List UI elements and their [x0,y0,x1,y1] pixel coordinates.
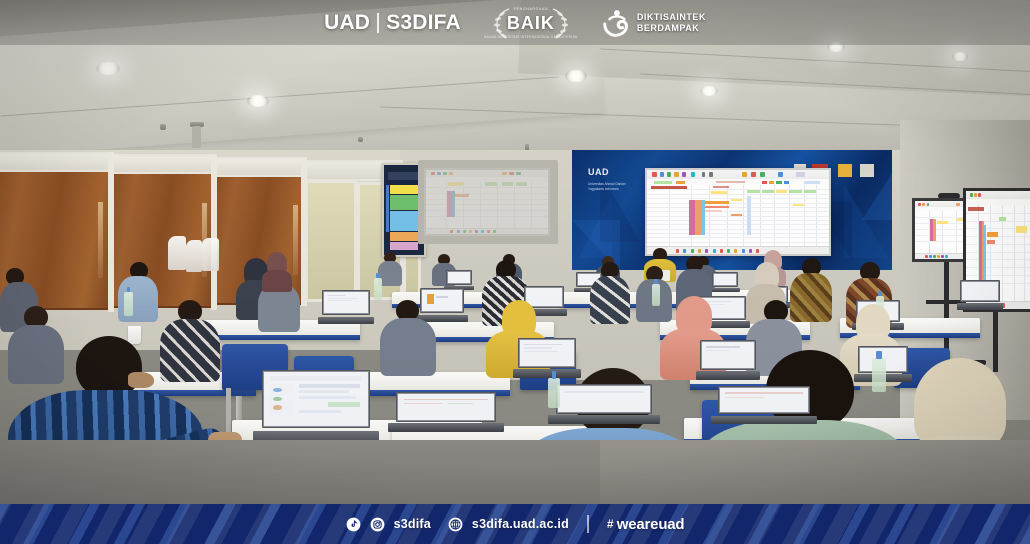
laptop-keyboard [711,416,818,424]
ceiling-downlight [700,86,718,96]
left-projection-screen [424,168,550,236]
glass-partition [305,180,357,302]
backdrop-tagline: Universitas Ahmad Dahlan Yogyakarta Indo… [588,182,626,191]
backdrop-uad-logo: UAD [588,167,609,177]
laptop-screen [518,338,576,368]
plastic-bag [186,240,202,272]
water-bottle [124,292,133,316]
logo-uad-s3difa: UAD S3DIFA [324,11,461,35]
attendee-hijab [262,252,292,292]
backdrop-tagline-line2: Yogyakarta Indonesia [588,187,626,191]
attendee [380,300,436,376]
baik-top-text: PENGHARGAAN [479,7,583,11]
laptop [712,272,738,292]
laptop [960,280,1000,310]
diktisaintek-emblem-icon [601,8,631,38]
laptop-keyboard [957,303,1003,310]
ceiling-fixture [358,137,363,142]
diktisaintek-line1: DIKTISAINTEK [637,12,706,23]
footer-divider [587,515,589,533]
laptop [718,386,810,424]
water-bottle [652,284,660,306]
laptop-screen [556,384,652,414]
water-bottle [872,358,886,392]
header-branding-bar: UAD S3DIFA [0,0,1030,45]
footer-branding-bar: s3difa s3difa.uad.ac.id # weareuad [0,504,1030,544]
laptop [396,392,496,432]
laptop-screen [446,270,472,285]
tiktok-icon[interactable] [346,517,361,532]
uad-wordmark: UAD [324,11,370,35]
ceiling-downlight [952,52,968,61]
ceiling-fixture [160,124,166,130]
laptop-keyboard [318,317,374,324]
laptop-keyboard [388,423,504,432]
backdrop-sponsor-logo [860,164,874,177]
main-projection-screen [645,168,831,256]
ceiling-downlight [565,70,587,82]
spreadsheet-grid [647,185,829,247]
laptop-front [262,370,370,448]
logo-baik: PENGHARGAAN BAIK BADAN AKREDITASI INTERN… [479,5,583,41]
spreadsheet-grid [426,182,548,229]
water-bottle [548,378,560,408]
footer-content: s3difa s3difa.uad.ac.id # weareuad [346,515,685,533]
wall-sensor [192,126,201,148]
door-transom [112,154,217,174]
water-bottle [374,278,382,300]
door-transom [0,152,114,172]
globe-icon[interactable] [448,517,463,532]
social-handle[interactable]: s3difa [394,517,431,531]
s3difa-wordmark: S3DIFA [386,11,461,35]
screenshot-root: UAD Universitas Ahmad Dahlan Yogyakarta … [0,0,1030,544]
hashtag-text: weareuad [617,516,685,533]
backdrop-sponsor-logo [838,164,852,177]
laptop [446,270,472,290]
attendee-batik [590,262,630,324]
instagram-icon[interactable] [370,517,385,532]
diktisaintek-line2: BERDAMPAK [637,23,706,34]
laptop-keyboard [548,415,659,424]
ear-and-face [128,372,154,388]
hash-symbol: # [607,517,614,531]
hashtag-weareuad: # weareuad [607,516,684,533]
laptop-screen [262,370,370,428]
laptop-screen [718,386,810,414]
spreadsheet-view [426,170,548,234]
baik-sub-text: BADAN AKREDITASI INTERNASIONAL KEMENTERI… [479,35,583,39]
wall-mullion [211,155,217,310]
plastic-bag [202,238,219,271]
laptop [556,384,652,424]
logo-diktisaintek: DIKTISAINTEK BERDAMPAK [601,8,706,38]
laptop-screen [322,290,370,315]
wall-mullion [301,158,307,306]
door-transom [215,157,307,177]
laptop-screen [396,392,496,422]
laptop [322,290,370,324]
diktisaintek-wordmark: DIKTISAINTEK BERDAMPAK [637,12,706,34]
laptop-screen [960,280,1000,302]
plastic-bag [168,236,186,270]
ceiling-downlight [247,95,269,107]
website-url[interactable]: s3difa.uad.ac.id [472,517,569,531]
floor-right [600,440,1030,510]
spreadsheet-view [647,170,829,254]
laptop-keyboard [710,288,740,292]
ceiling-downlight [96,62,120,75]
laptop-screen [712,272,738,287]
wall-mullion [108,152,114,312]
logo-divider [377,13,379,33]
spreadsheet-status-bar [426,228,548,234]
